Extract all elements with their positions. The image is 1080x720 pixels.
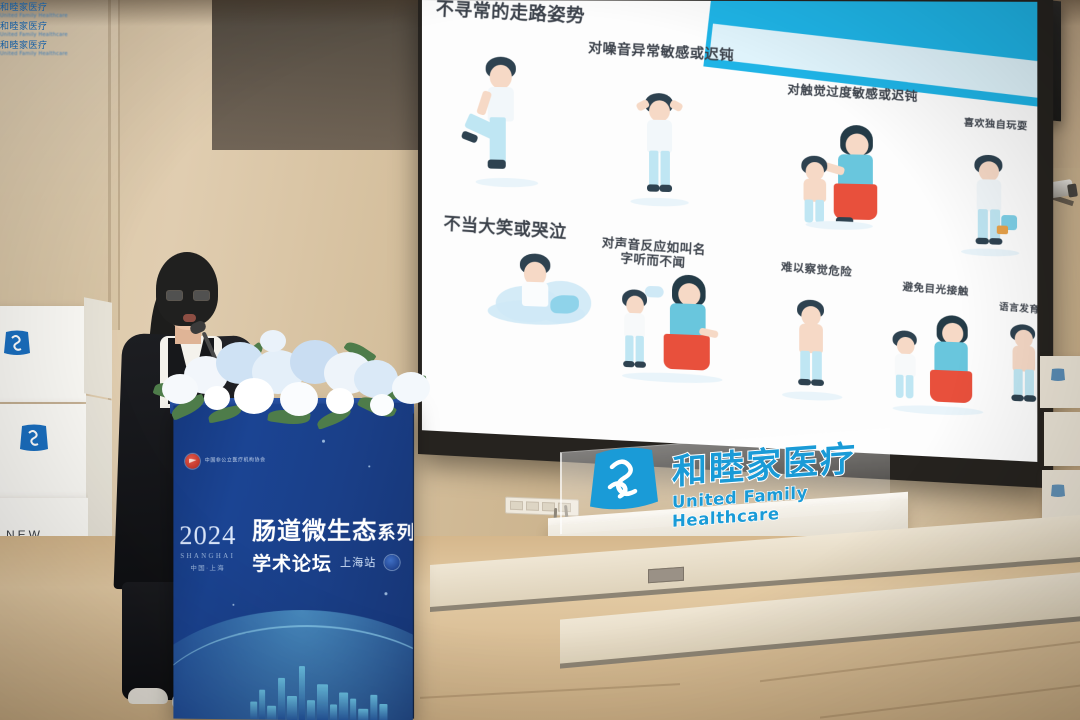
- carton-top-side: [84, 297, 112, 398]
- illustration-child-danger: [784, 297, 849, 398]
- slide-label-alone: 喜欢独自玩耍: [923, 115, 1037, 135]
- association-logo-row: 中国非公立医疗机构协会: [185, 452, 326, 469]
- carton-top-brand-cn: 和睦家医疗: [0, 0, 1080, 13]
- association-name: 中国非公立医疗机构协会: [205, 458, 266, 463]
- ufh-sign-text: 和睦家医疗 United Family Healthcare: [672, 440, 887, 531]
- carton-mid-brand-cn: 和睦家医疗: [0, 19, 1080, 32]
- illustration-mother-kneeling-with-child: [620, 273, 735, 389]
- podium-forum: 学术论坛: [252, 549, 332, 576]
- carton-right-logo-2: [1050, 484, 1066, 503]
- illustration-child-laughing-crying: [488, 248, 610, 342]
- illustration-child-playing-alone: [959, 152, 1026, 256]
- podium-year-block: 2024 SHANGHAI 中国·上海: [179, 522, 236, 572]
- podium-main-title: 肠道微生态系列 学术论坛 上海站: [252, 518, 413, 576]
- podium-city-en: SHANGHAI: [179, 552, 236, 560]
- illustration-avoid-eye-contact: [893, 313, 997, 415]
- illustration-child-covering-ears: [626, 89, 693, 203]
- podium-title-block: 2024 SHANGHAI 中国·上海 肠道微生态系列 学术论坛 上海站: [179, 508, 411, 587]
- carton-bottom-brand-en: United Family Healthcare: [0, 51, 1080, 57]
- screen-surface: 不寻常的走路姿势 对噪音异常敏感或迟钝 对触觉过度敏感或迟钝 喜欢独自玩耍 不当…: [422, 0, 1037, 462]
- podium-station: 上海站: [340, 554, 376, 570]
- carton-right-logo: [1050, 368, 1066, 387]
- ufh-fan-logo-icon: [586, 443, 662, 517]
- podium-series-main: 肠道微生态: [252, 516, 377, 545]
- projection-screen: 不寻常的走路姿势 对噪音异常敏感或迟钝 对触觉过度敏感或迟钝 喜欢独自玩耍 不当…: [418, 0, 1053, 488]
- security-camera-lens: [1067, 183, 1078, 197]
- illustration-child-speech-delay: [999, 321, 1037, 413]
- floor-outlet-plate: [648, 567, 684, 584]
- association-emblem-icon: [185, 453, 200, 468]
- floral-arrangement: [148, 326, 438, 436]
- carton-mid-side: [86, 395, 112, 502]
- carton-top-logo: [2, 330, 32, 362]
- podium-banner: 中国非公立医疗机构协会 2024 SHANGHAI 中国·上海 肠道微生态系列 …: [173, 403, 412, 720]
- podium-series-suffix: 系列: [377, 523, 412, 544]
- podium-city-cn: 中国·上海: [179, 562, 236, 572]
- conference-room-scene: 不寻常的走路姿势 对噪音异常敏感或迟钝 对触觉过度敏感或迟钝 喜欢独自玩耍 不当…: [0, 0, 1080, 720]
- podium-year: 2024: [179, 522, 236, 549]
- carton-right-mid: [1044, 412, 1080, 466]
- carton-mid-logo: [18, 424, 50, 458]
- slide-label-touch: 对触觉过度敏感或迟钝: [760, 82, 945, 107]
- presenter-mouth: [183, 314, 196, 322]
- eyeglasses-icon: [166, 290, 210, 302]
- illustration-child-walking: [464, 56, 545, 189]
- carton-bottom-brand-cn: 和睦家医疗: [0, 38, 1080, 51]
- shanghai-skyline-icon: [250, 654, 400, 720]
- slide-content: 不寻常的走路姿势 对噪音异常敏感或迟钝 对触觉过度敏感或迟钝 喜欢独自玩耍 不当…: [422, 0, 1037, 462]
- presenter-shoe-left: [128, 688, 168, 704]
- podium-seal-icon: [384, 555, 399, 570]
